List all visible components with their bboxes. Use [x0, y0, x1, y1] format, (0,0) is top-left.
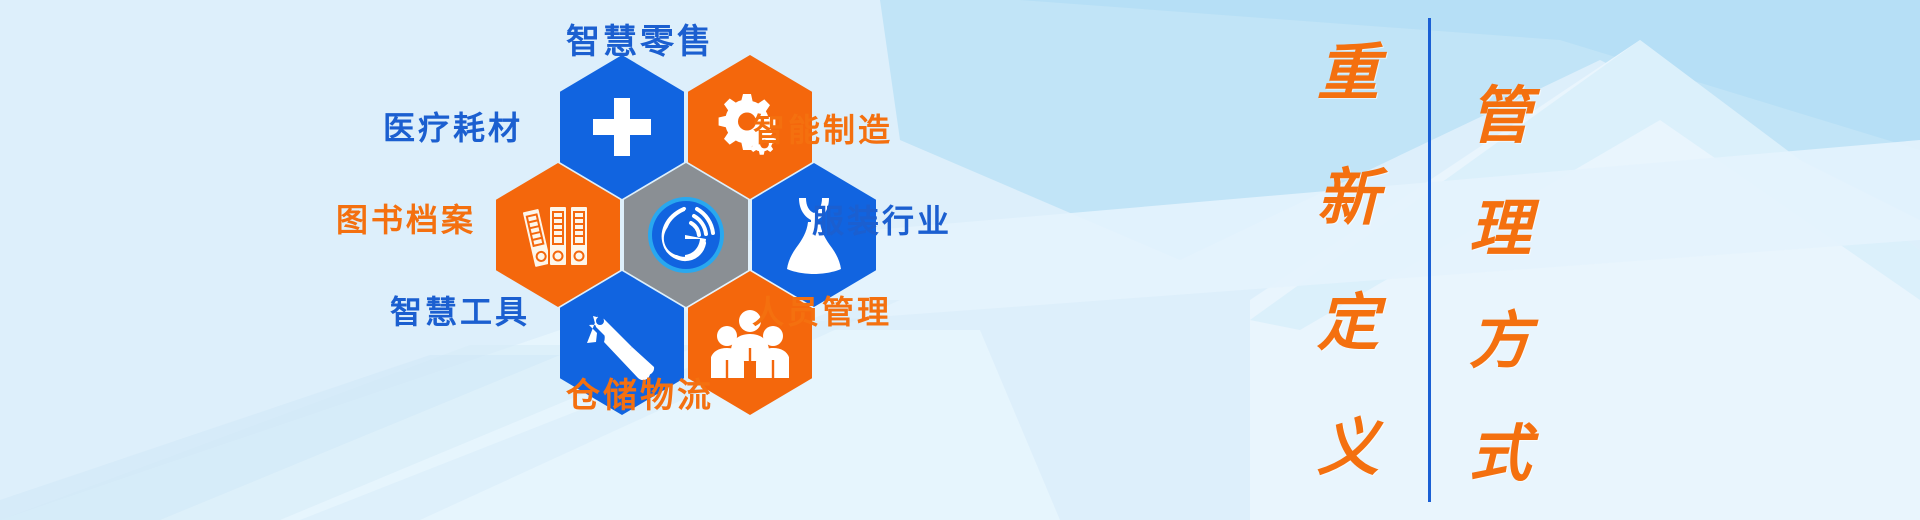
calligraphy-char: 重	[1317, 42, 1379, 104]
label-books-archives: 图书档案	[336, 195, 476, 241]
binders-icon	[521, 198, 595, 272]
calligraphy-left-column: 重 新 定 义	[1300, 10, 1396, 510]
label-smart-retail: 智慧零售	[566, 14, 714, 63]
calligraphy-divider	[1428, 18, 1431, 502]
rfid-signal-icon	[644, 193, 728, 277]
calligraphy-char: 新	[1317, 167, 1379, 229]
label-medical-supplies: 医疗耗材	[383, 103, 523, 149]
label-apparel-industry: 服装行业	[812, 196, 952, 242]
label-smart-tools: 智慧工具	[390, 287, 530, 333]
calligraphy-right-column: 管 理 方 式	[1452, 60, 1548, 510]
banner-root: 智慧零售 医疗耗材 智能制造 图书档案 服装行业 智慧工具 人员管理 仓储物流 …	[0, 0, 1920, 520]
label-warehouse-logistics: 仓储物流	[566, 368, 714, 417]
medical-cross-icon	[589, 94, 655, 160]
background-decoration	[0, 0, 1920, 520]
calligraphy-block: 重 新 定 义 管 理 方 式	[1300, 0, 1560, 520]
calligraphy-char: 理	[1469, 198, 1531, 260]
calligraphy-char: 方	[1469, 310, 1531, 372]
calligraphy-char: 式	[1469, 423, 1531, 485]
label-personnel-management: 人员管理	[752, 287, 892, 333]
calligraphy-char: 管	[1469, 85, 1531, 147]
calligraphy-char: 义	[1317, 417, 1379, 479]
label-smart-manufacturing: 智能制造	[753, 105, 893, 151]
calligraphy-char: 定	[1317, 292, 1379, 354]
